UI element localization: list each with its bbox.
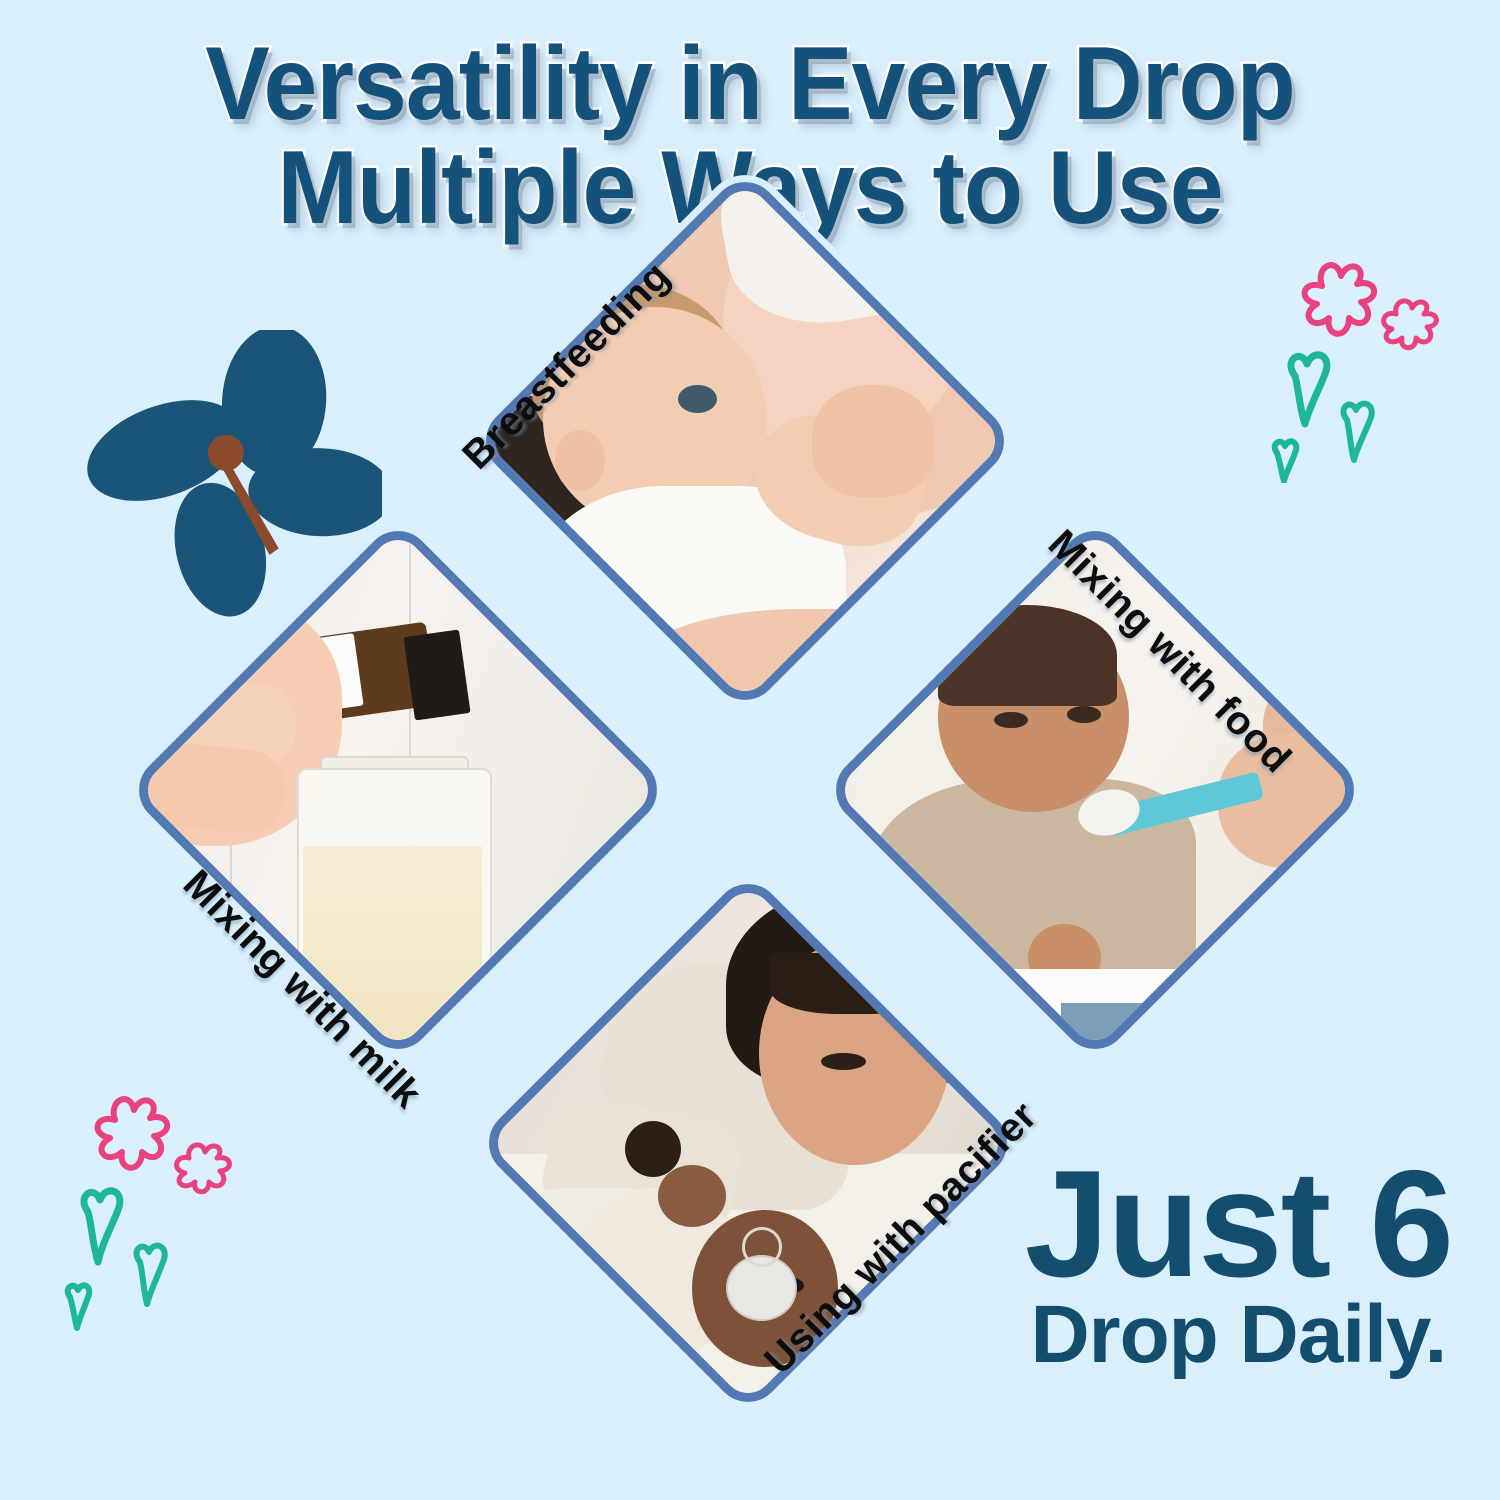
- photo-tile-breastfeeding[interactable]: [472, 168, 1018, 714]
- photo-tile-using-with-pacifier[interactable]: [475, 870, 1021, 1416]
- photo-tile-mixing-with-milk[interactable]: 125ml 100 80: [125, 517, 671, 1063]
- cta-block: Just 6 Drop Daily.: [1025, 1155, 1452, 1372]
- breastfeeding-photo: [472, 168, 1018, 714]
- using-with-pacifier-photo: [475, 870, 1021, 1416]
- title-line-1: Versatility in Every Drop: [53, 34, 1448, 136]
- decoration-cluster-top-right: [1265, 248, 1480, 483]
- cta-subline: Drop Daily.: [1025, 1297, 1452, 1372]
- flower-icon: [1384, 301, 1437, 348]
- heart-icon: [84, 1191, 120, 1262]
- heart-icon: [1291, 355, 1327, 424]
- flower-icon: [1305, 265, 1375, 334]
- bottle-marking-100: 100: [637, 924, 655, 936]
- mixing-with-milk-photo: 125ml 100 80: [125, 517, 671, 1063]
- flower-icon: [98, 1099, 168, 1168]
- cta-headline: Just 6: [1025, 1155, 1452, 1295]
- heart-icon: [68, 1285, 90, 1328]
- heart-icon: [136, 1246, 164, 1304]
- bottle-marking-125: 125ml: [626, 880, 656, 892]
- heart-icon: [1343, 404, 1371, 460]
- infographic-canvas: Versatility in Every Drop Multiple Ways …: [0, 0, 1500, 1500]
